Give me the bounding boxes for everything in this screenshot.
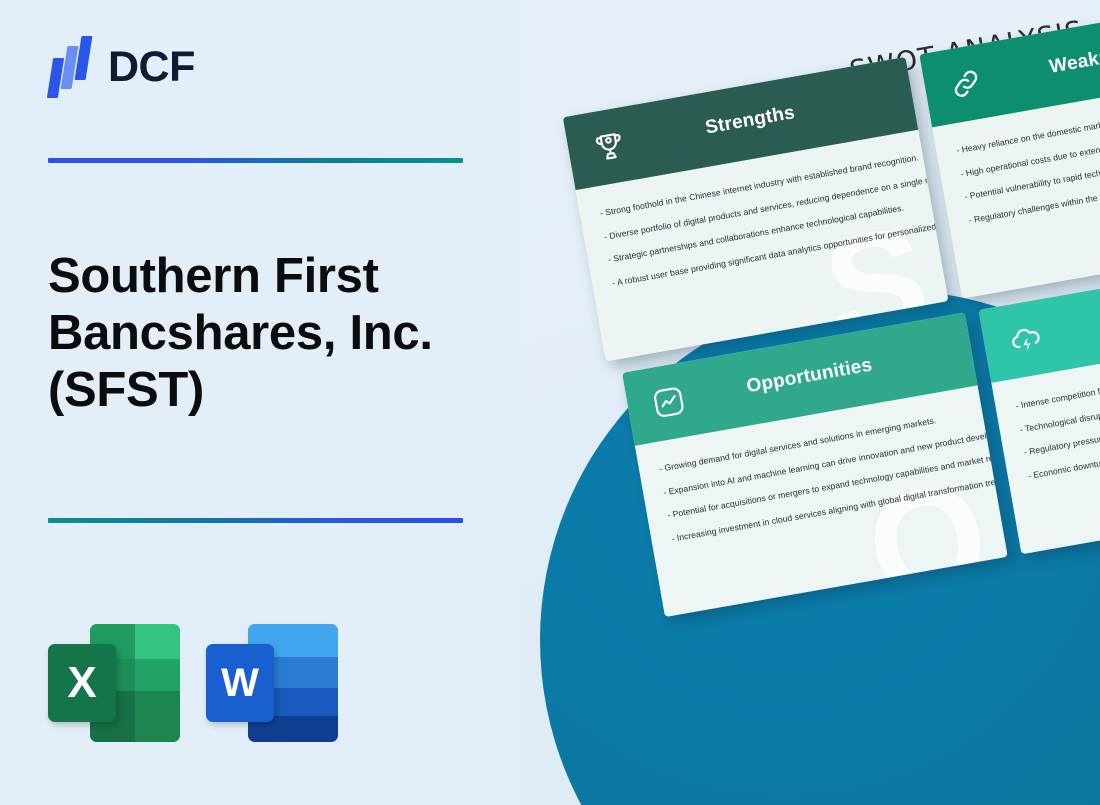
divider-top (48, 158, 463, 163)
swot-card-opportunities[interactable]: Opportunities O Growing demand for digit… (622, 312, 1008, 617)
cover-page: DCF Southern First Bancshares, Inc. (SFS… (0, 0, 1100, 805)
trend-line-icon (647, 380, 691, 424)
swot-card-strengths[interactable]: Strengths S Strong foothold in the Chine… (563, 57, 949, 362)
three-bars-logo-icon (48, 36, 94, 98)
storm-cloud-icon (1003, 317, 1047, 361)
word-file-icon[interactable]: W (206, 620, 338, 746)
divider-bottom (48, 518, 463, 523)
word-letter: W (206, 644, 274, 722)
trophy-icon (588, 125, 632, 169)
brand-logo[interactable]: DCF (48, 36, 195, 98)
excel-letter: X (48, 644, 116, 722)
left-info-column: DCF Southern First Bancshares, Inc. (SFS… (0, 0, 575, 805)
file-format-icons: X W (48, 620, 338, 746)
swot-panel: SWOT ANALYSIS Strength (520, 0, 1100, 805)
swot-card-grid: Strengths S Strong foothold in the Chine… (563, 0, 1100, 639)
link-chain-icon (944, 62, 988, 106)
excel-file-icon[interactable]: X (48, 620, 180, 746)
page-title: Southern First Bancshares, Inc. (SFST) (48, 248, 518, 418)
brand-name: DCF (108, 46, 195, 89)
